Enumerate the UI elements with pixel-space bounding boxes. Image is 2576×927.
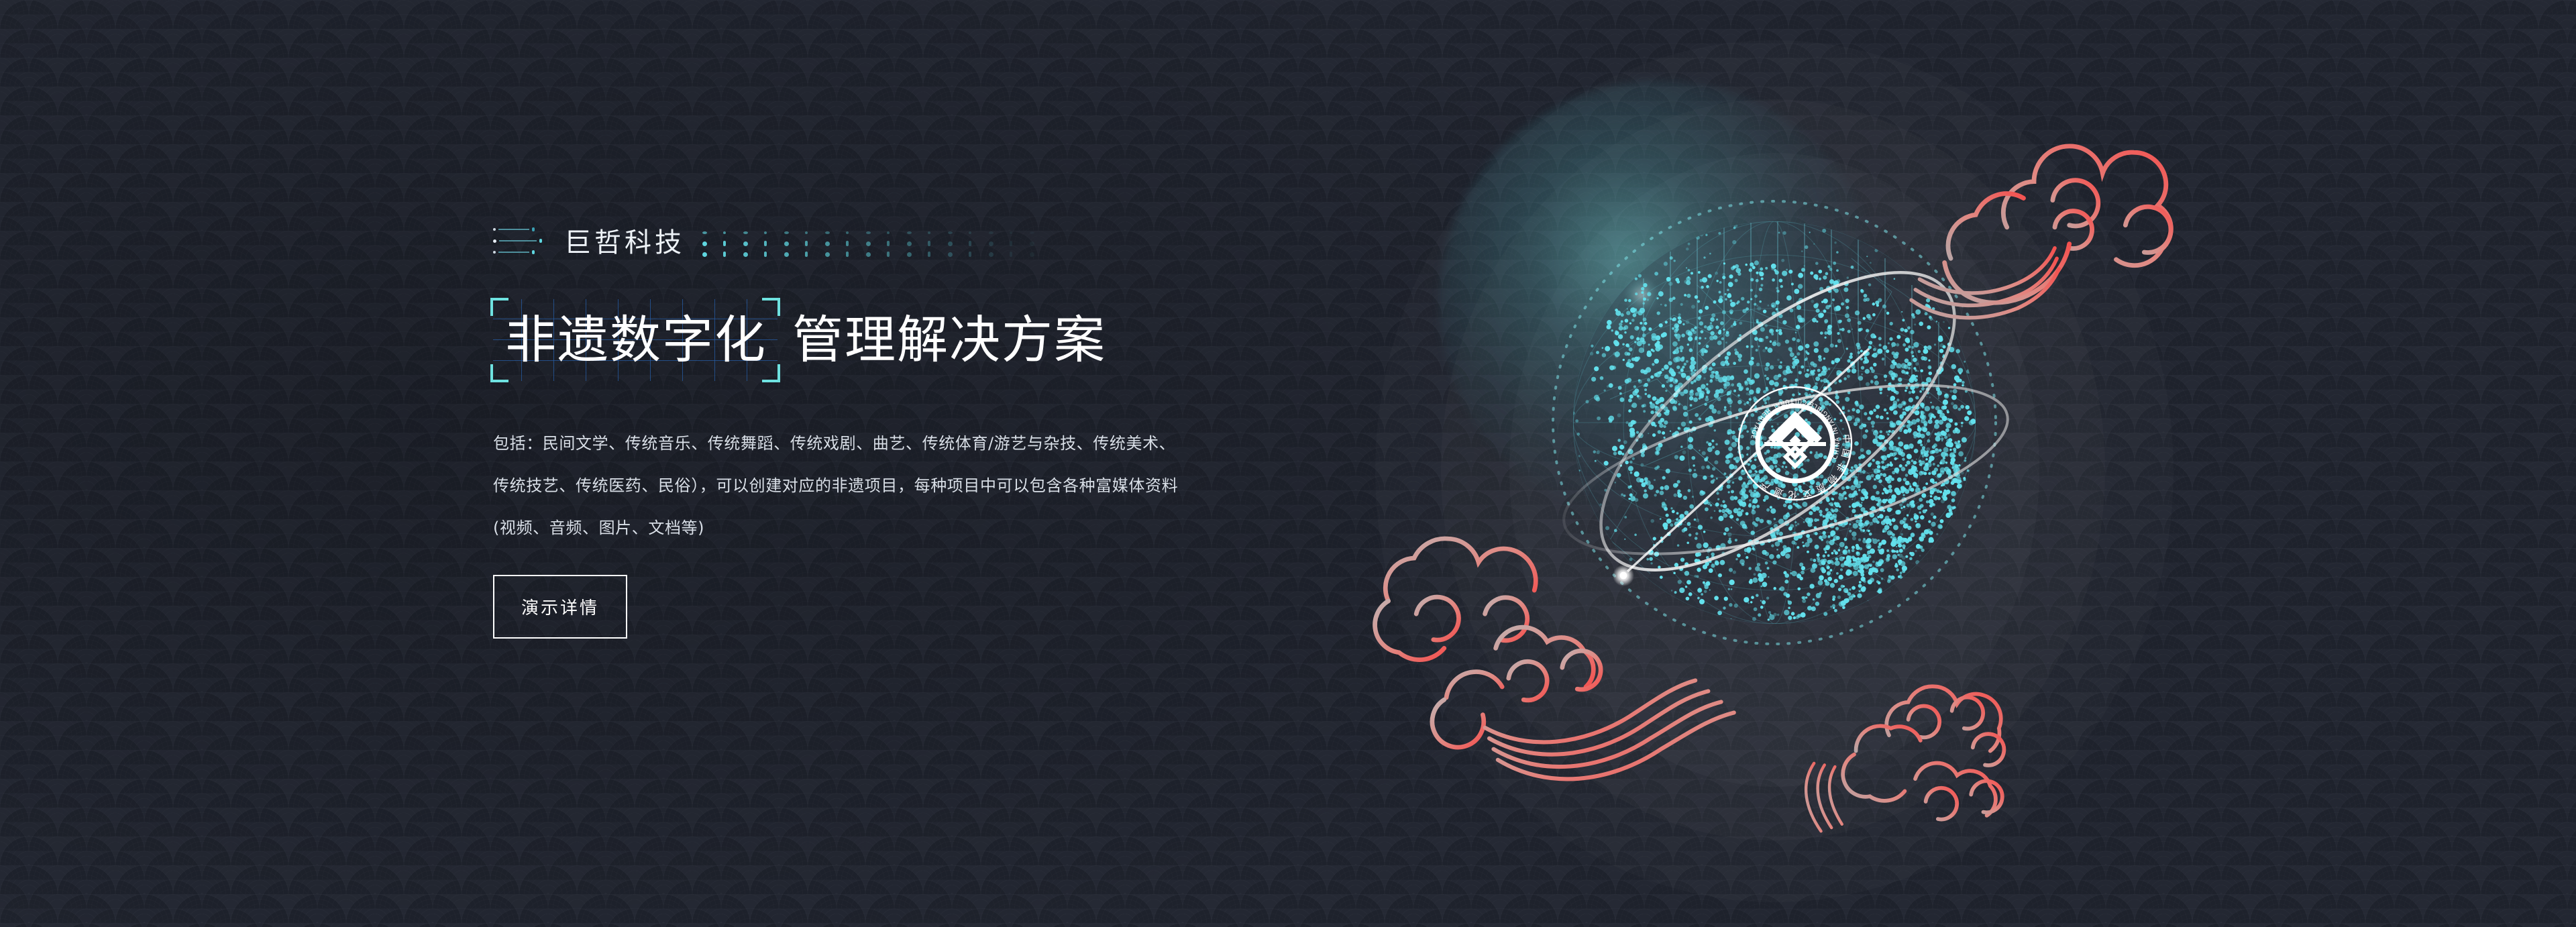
auspicious-cloud-left	[1375, 539, 1734, 779]
china-intangible-cultural-heritage-emblem: 中国非物质文化遗产 CHINA INTANGIBLE CULTURAL HERI…	[1737, 386, 1853, 501]
description-paragraph: 包括：民间文学、传统音乐、传统舞蹈、传统戏剧、曲艺、传统体育/游艺与杂技、传统美…	[493, 423, 1184, 549]
auspicious-cloud-bottom-right	[1806, 686, 2004, 831]
auspicious-cloud-top-right	[1911, 146, 2171, 318]
hero-banner: 中国非物质文化遗产 CHINA INTANGIBLE CULTURAL HERI…	[0, 0, 2576, 927]
demo-details-button[interactable]: 演示详情	[493, 575, 627, 639]
headline-highlight-text: 非遗数字化	[505, 315, 767, 366]
three-line-dash-mark-icon	[493, 227, 545, 259]
headline-rest-text: 管理解决方案	[792, 315, 1106, 366]
headline-highlight-box: 非遗数字化	[493, 299, 777, 381]
brand-name: 巨哲科技	[564, 229, 685, 256]
hero-illustration: 中国非物质文化遗产 CHINA INTANGIBLE CULTURAL HERI…	[1308, 0, 2576, 927]
hero-content: 巨哲科技 非遗数字化 管理解决方案 包括：民间文学、传统音乐、传统舞蹈、传统戏剧…	[493, 221, 1231, 639]
fading-dot-grid-icon	[702, 226, 1051, 260]
auspicious-clouds-layer	[1308, 0, 2576, 927]
page-title: 非遗数字化 管理解决方案	[493, 299, 1231, 381]
eyebrow-row: 巨哲科技	[493, 221, 1231, 264]
